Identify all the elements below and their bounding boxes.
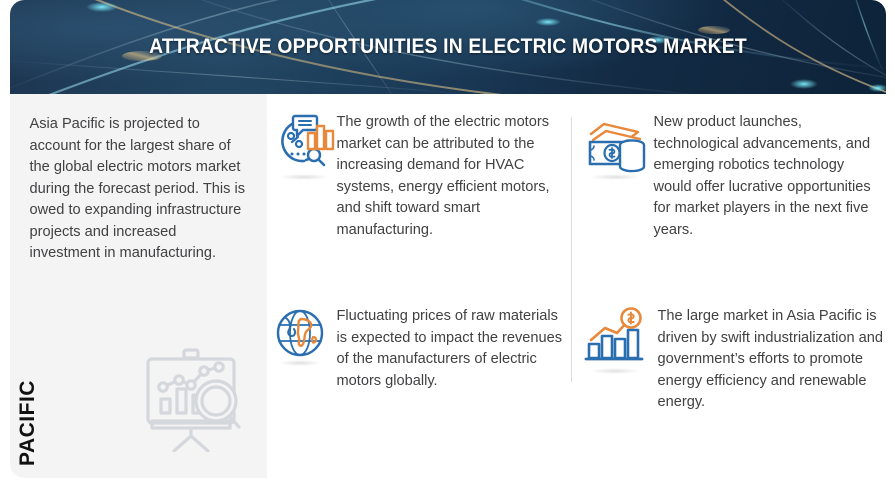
globe-icon bbox=[273, 306, 327, 360]
list-item: New product launches, technological adva… bbox=[584, 112, 884, 241]
region-label-line2: PACIFIC bbox=[16, 316, 40, 466]
list-item: The growth of the electric motors market… bbox=[273, 112, 571, 241]
list-item: The large market in Asia Pacific is driv… bbox=[584, 306, 884, 414]
market-analytics-pie-bar-icon bbox=[273, 112, 335, 174]
right-column: New product launches, technological adva… bbox=[572, 94, 886, 478]
infographic-root: ATTRACTIVE OPPORTUNITIES IN ELECTRIC MOT… bbox=[10, 0, 886, 478]
region-label: ASIA PACIFIC bbox=[10, 316, 40, 466]
growth-bar-chart-dollar-icon bbox=[584, 306, 646, 368]
list-item-text: New product launches, technological adva… bbox=[654, 112, 884, 241]
list-item-text: Fluctuating prices of raw materials is e… bbox=[337, 306, 571, 392]
region-label-line1: ASIA bbox=[10, 316, 16, 466]
list-item-text: The growth of the electric motors market… bbox=[337, 112, 565, 241]
page-title: ATTRACTIVE OPPORTUNITIES IN ELECTRIC MOT… bbox=[45, 0, 851, 94]
middle-column: The growth of the electric motors market… bbox=[267, 94, 572, 478]
list-item: Fluctuating prices of raw materials is e… bbox=[273, 306, 571, 392]
presentation-chart-magnifier-icon bbox=[138, 347, 248, 452]
header-banner: ATTRACTIVE OPPORTUNITIES IN ELECTRIC MOT… bbox=[10, 0, 886, 94]
list-item-text: The large market in Asia Pacific is driv… bbox=[658, 306, 884, 414]
cash-coins-icon bbox=[584, 112, 646, 174]
left-panel-paragraph: Asia Pacific is projected to account for… bbox=[30, 114, 248, 265]
left-region-panel: Asia Pacific is projected to account for… bbox=[10, 94, 267, 478]
content-area: Asia Pacific is projected to account for… bbox=[10, 94, 886, 478]
